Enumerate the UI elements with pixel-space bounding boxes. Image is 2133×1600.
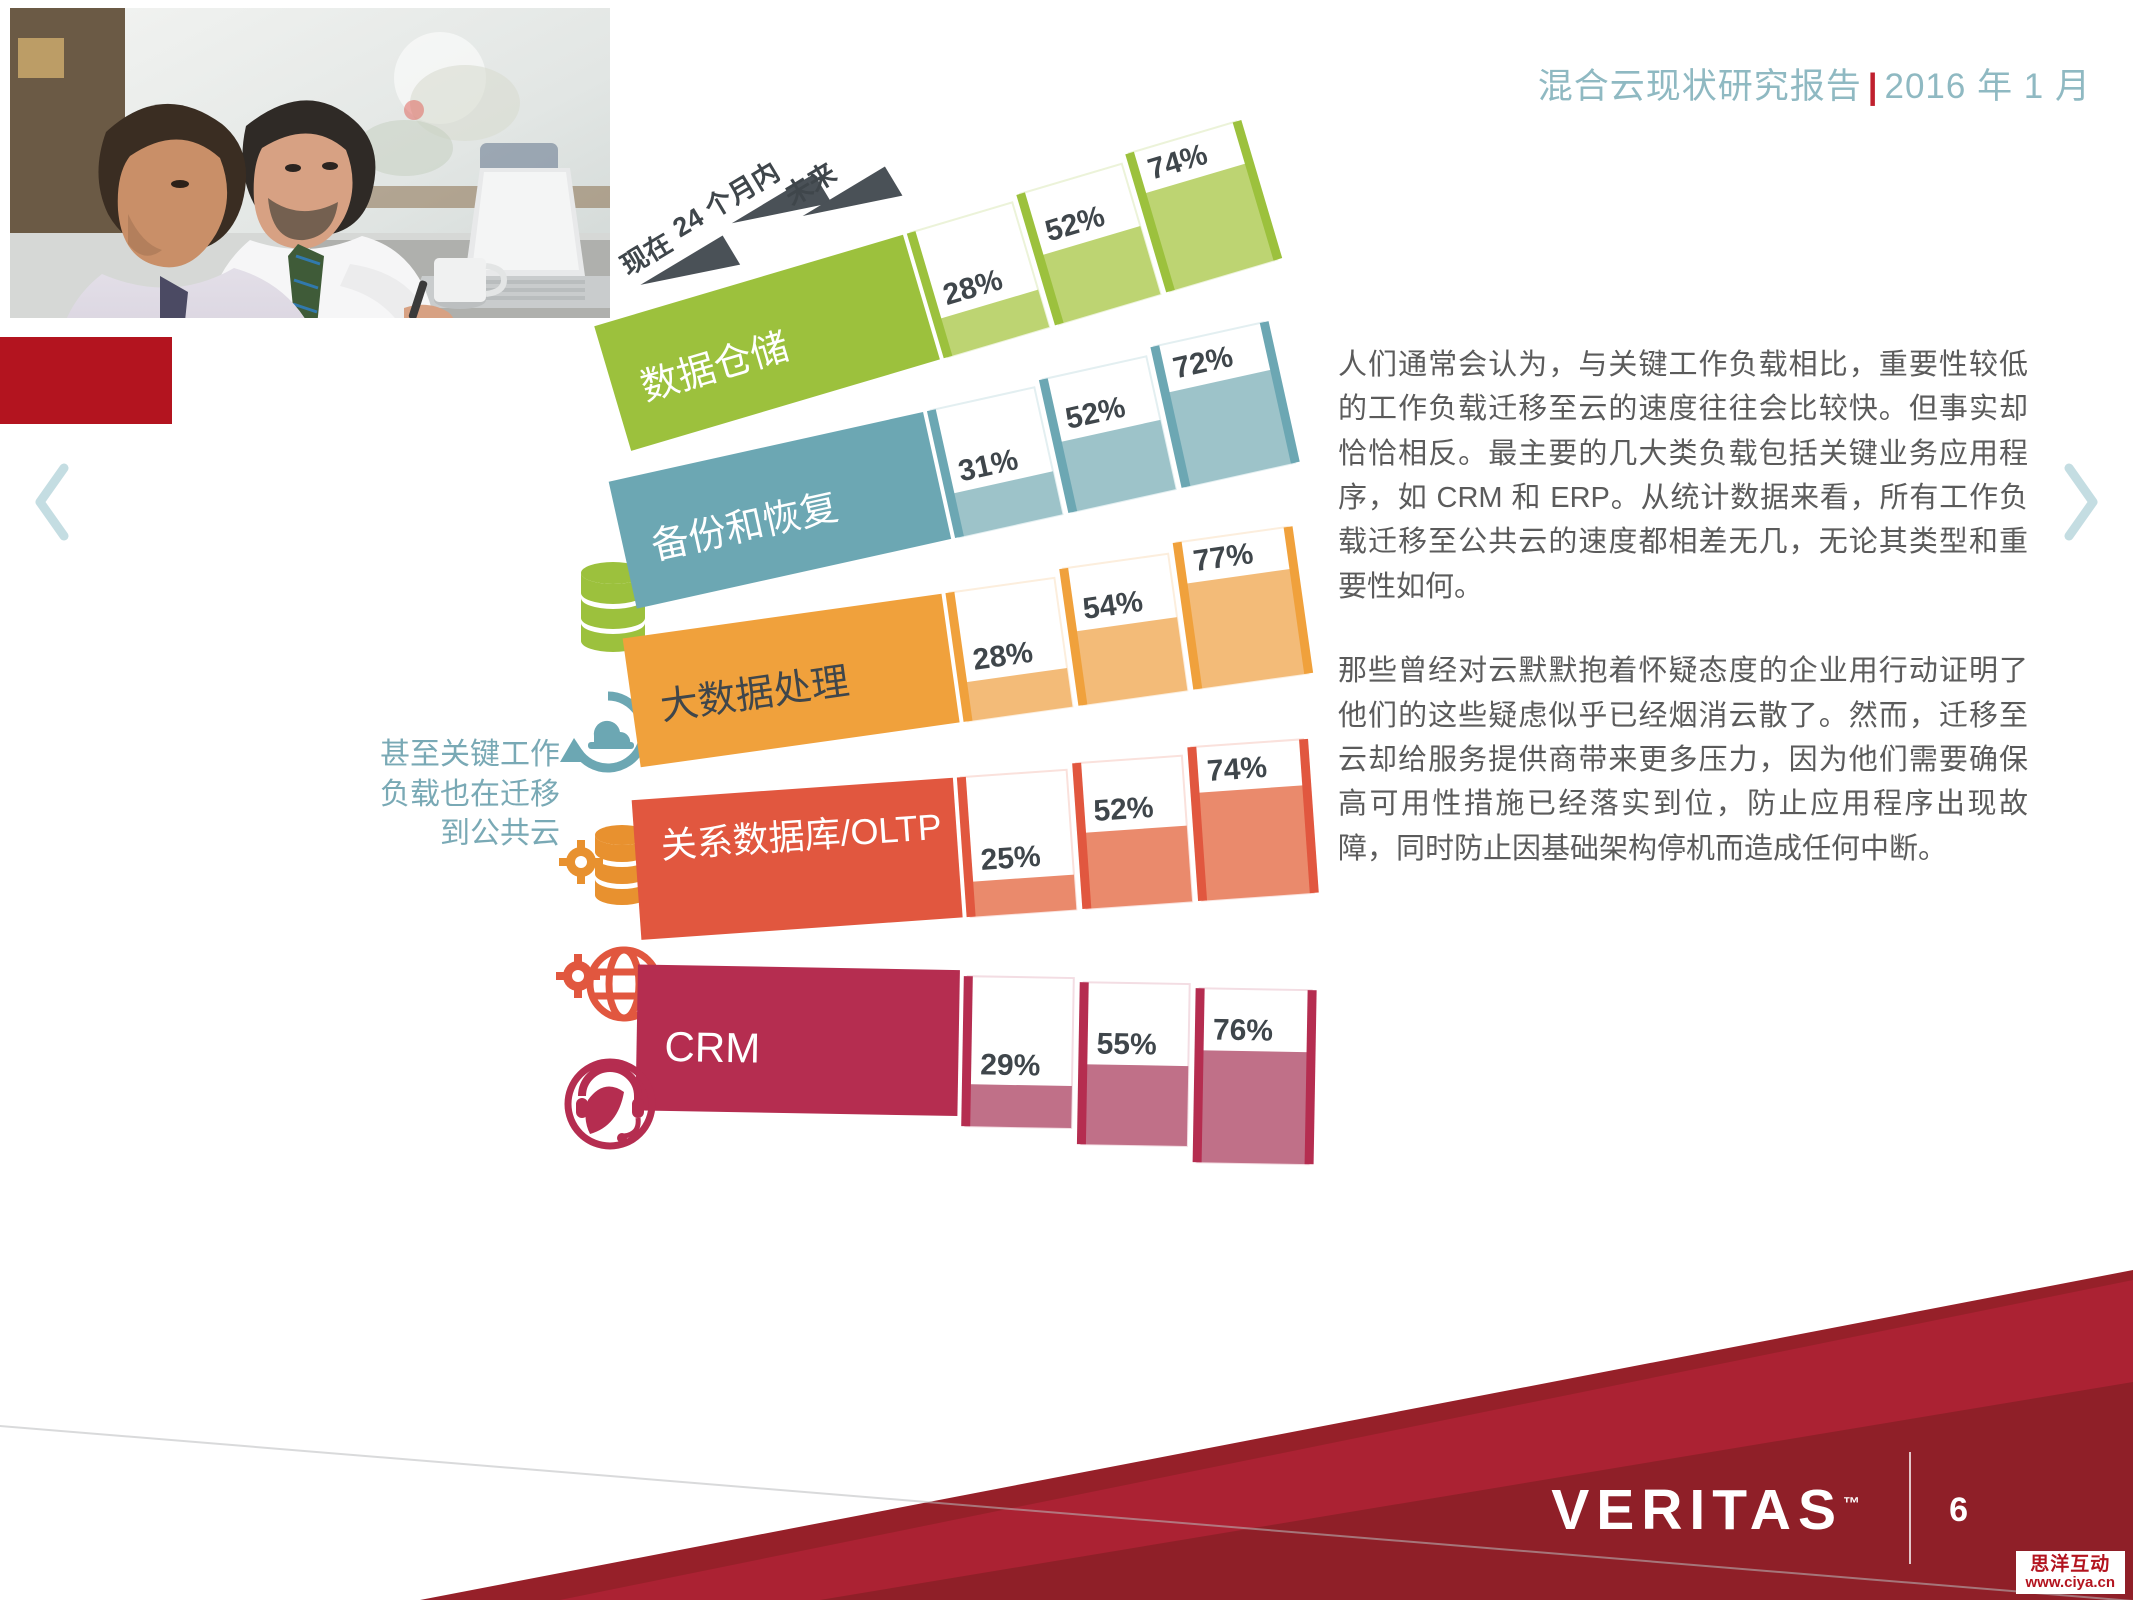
chart-svg: 现在 24 个月内 未来 数据仓储 [520, 180, 1340, 1310]
page-number: 6 [1949, 1491, 1968, 1530]
chart-row-crm: CRM 29% 55% 76% [568, 964, 1317, 1164]
next-page-button[interactable] [2059, 460, 2103, 544]
cloud-restore-icon [560, 696, 644, 768]
value-label: 76% [1213, 1013, 1274, 1047]
veritas-logo: VERITAS™ [1551, 1477, 1860, 1543]
value-label: 74% [1206, 751, 1268, 788]
body-copy: 人们通常会认为，与关键工作负载相比，重要性较低的工作负载迁移至云的速度往往会比较… [1338, 343, 2028, 911]
paragraph-1: 人们通常会认为，与关键工作负载相比，重要性较低的工作负载迁移至云的速度往往会比较… [1338, 343, 2028, 609]
watermark: 思洋互动 www.ciya.cn [2016, 1551, 2125, 1594]
chevron-right-icon [2059, 460, 2103, 544]
value-label: 52% [1092, 791, 1154, 828]
trademark-symbol: ™ [1843, 1494, 1860, 1513]
red-accent-block [0, 337, 172, 424]
row-label-crm: CRM [664, 1023, 760, 1072]
footer-shapes [0, 1270, 2133, 1600]
watermark-name: 思洋互动 [2026, 1555, 2115, 1575]
value-label: 55% [1096, 1027, 1157, 1061]
header-separator: | [1862, 67, 1885, 106]
header-date: 2016 年 1 月 [1885, 67, 2092, 106]
paragraph-2: 那些曾经对云默默抱着怀疑态度的企业用行动证明了他们的这些疑虑似乎已经烟消云散了。… [1338, 649, 2028, 871]
footer-divider [1909, 1452, 1911, 1564]
watermark-url: www.ciya.cn [2026, 1575, 2115, 1591]
value-label: 29% [980, 1048, 1041, 1082]
value-label: 25% [980, 840, 1042, 877]
header-title: 混合云现状研究报告 [1538, 67, 1862, 106]
column-header-24months: 24 个月内 [668, 156, 785, 243]
page-footer [0, 1270, 2133, 1600]
chevron-left-icon [30, 460, 74, 544]
veritas-wordmark: VERITAS [1551, 1478, 1843, 1542]
page-header: 混合云现状研究报告|2016 年 1 月 [1538, 58, 2091, 109]
slide-page: 混合云现状研究报告|2016 年 1 月 甚至关键工作 负载也在迁移 到公共云 … [0, 0, 2133, 1600]
fan-bar-chart: 现在 24 个月内 未来 数据仓储 [520, 180, 1340, 1310]
headset-icon [568, 1062, 652, 1146]
prev-page-button[interactable] [30, 460, 74, 544]
